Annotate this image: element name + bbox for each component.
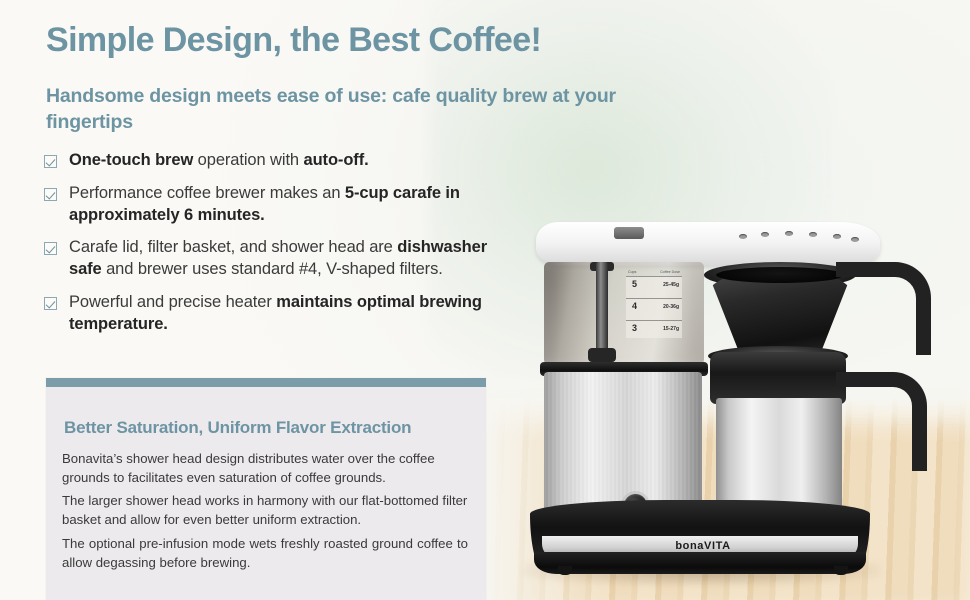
- carafe-collar: [710, 352, 846, 404]
- info-panel-paragraph-1: Bonavita’s shower head design distribute…: [62, 450, 468, 487]
- feature-list-item-one-touch-brew: One-touch brew operation with auto-off.: [44, 150, 504, 172]
- vent-hole: [739, 234, 747, 239]
- feature-text-part: One-touch brew: [69, 151, 193, 169]
- tank-scale-cup-value: 5: [632, 280, 637, 290]
- product-photograph: CupsCoffee Dose525-45g420-36g315-27g bon…: [484, 0, 970, 600]
- tank-scale-cup-value: 4: [632, 302, 637, 312]
- filter-basket-handle: [836, 262, 931, 355]
- shower-head-vent-holes: [739, 230, 869, 246]
- tank-scale-gram-value: 25-45g: [663, 283, 679, 289]
- brand-logo: bonaVITA: [648, 540, 758, 552]
- feature-text: Carafe lid, filter basket, and shower he…: [69, 237, 504, 281]
- feature-list: One-touch brew operation with auto-off.P…: [44, 150, 504, 346]
- vent-hole: [761, 232, 769, 237]
- feature-list-item-optimal-temperature: Powerful and precise heater maintains op…: [44, 292, 504, 336]
- feature-list-item-five-cup-carafe: Performance coffee brewer makes an 5-cup…: [44, 183, 504, 227]
- tank-scale-row: 420-36g: [626, 298, 682, 320]
- feature-list-item-dishwasher-safe: Carafe lid, filter basket, and shower he…: [44, 237, 504, 281]
- feature-text-part: Performance coffee brewer makes an: [69, 184, 345, 202]
- brewer-base-bottom: [534, 552, 866, 574]
- tank-tube-base: [588, 348, 616, 362]
- checkbox-checked-icon: [44, 242, 57, 255]
- vent-hole: [833, 234, 841, 239]
- feature-text: One-touch brew operation with auto-off.: [69, 150, 369, 172]
- info-panel-top-bar: [46, 378, 486, 387]
- tank-scale-cup-value: 3: [632, 324, 637, 334]
- feature-text-part: Powerful and precise heater: [69, 293, 276, 311]
- feature-text: Powerful and precise heater maintains op…: [69, 292, 504, 336]
- filter-basket-opening: [716, 267, 844, 283]
- feature-text-part: and brewer uses standard #4, V-shaped fi…: [102, 260, 443, 278]
- product-feature-banner: Simple Design, the Best Coffee! Handsome…: [0, 0, 970, 600]
- tank-scale-row: 315-27g: [626, 320, 682, 342]
- info-panel-paragraph-3: The optional pre-infusion mode wets fres…: [62, 535, 468, 572]
- tank-scale-header-cups: Cups: [628, 271, 636, 275]
- feature-text: Performance coffee brewer makes an 5-cup…: [69, 183, 504, 227]
- base-foot-right: [834, 566, 848, 575]
- feature-text-part: Carafe lid, filter basket, and shower he…: [69, 238, 397, 256]
- checkbox-checked-icon: [44, 297, 57, 310]
- tank-scale-header-dose: Coffee Dose: [660, 271, 680, 275]
- carafe-handle: [836, 372, 927, 471]
- tank-scale-gram-value: 15-27g: [663, 327, 679, 333]
- checkbox-checked-icon: [44, 155, 57, 168]
- feature-text-part: operation with: [193, 151, 303, 169]
- tank-lid-tab: [614, 227, 644, 239]
- coffee-brewer: CupsCoffee Dose525-45g420-36g315-27g bon…: [484, 0, 970, 600]
- checkbox-checked-icon: [44, 188, 57, 201]
- vent-hole: [851, 237, 859, 242]
- base-foot-left: [558, 566, 572, 575]
- tank-scale-row: CupsCoffee Dose525-45g: [626, 276, 682, 298]
- vent-hole: [785, 231, 793, 236]
- info-panel-title: Better Saturation, Uniform Flavor Extrac…: [64, 418, 411, 438]
- vent-hole: [809, 232, 817, 237]
- info-panel-paragraph-2: The larger shower head works in harmony …: [62, 492, 468, 529]
- feature-text-part: auto-off.: [304, 151, 369, 169]
- tank-scale-gram-value: 20-36g: [663, 305, 679, 311]
- water-tank-measurement-scale: CupsCoffee Dose525-45g420-36g315-27g: [626, 276, 682, 338]
